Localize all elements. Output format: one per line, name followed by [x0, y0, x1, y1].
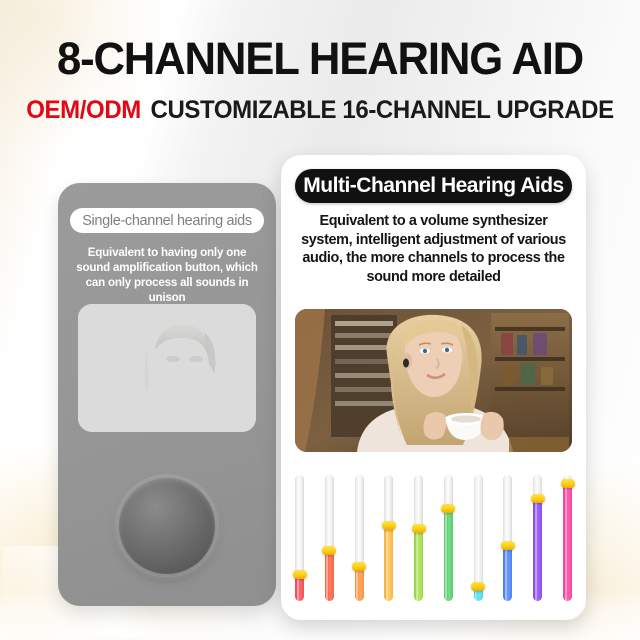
equalizer-knob[interactable] [531, 494, 545, 503]
coffee-photo-art [295, 309, 572, 452]
equalizer-fill [325, 550, 334, 601]
oem-odm-badge: OEM/ODM [26, 96, 141, 124]
equalizer-slider-3[interactable] [355, 475, 364, 601]
equalizer-slider-2[interactable] [325, 475, 334, 601]
single-channel-button[interactable] [119, 478, 215, 574]
equalizer-slider-4[interactable] [384, 475, 393, 601]
equalizer-fill [444, 508, 453, 601]
page-subtitle: OEM/ODMCUSTOMIZABLE 16-CHANNEL UPGRADE [13, 95, 627, 125]
equalizer-knob[interactable] [561, 479, 575, 488]
equalizer-slider-5[interactable] [414, 475, 423, 601]
equalizer-slider-10[interactable] [563, 475, 572, 601]
single-channel-description: Equivalent to having only one sound ampl… [72, 245, 262, 305]
single-channel-card: Single-channel hearing aids Equivalent t… [58, 183, 276, 606]
equalizer-knob[interactable] [471, 582, 485, 591]
multi-channel-card: Multi-Channel Hearing Aids Equivalent to… [281, 155, 586, 620]
equalizer-knob[interactable] [382, 521, 396, 530]
equalizer-slider-6[interactable] [444, 475, 453, 601]
single-channel-pill-label: Single-channel hearing aids [82, 213, 252, 229]
equalizer-slider-1[interactable] [295, 475, 304, 601]
headache-photo-art [78, 304, 256, 432]
equalizer-knob[interactable] [352, 562, 366, 571]
woman-with-headache-photo [78, 304, 256, 432]
single-channel-pill: Single-channel hearing aids [70, 208, 264, 233]
multi-channel-description: Equivalent to a volume synthesizer syste… [297, 212, 570, 286]
multi-channel-pill-label: Multi-Channel Hearing Aids [303, 174, 563, 198]
equalizer-knob[interactable] [441, 504, 455, 513]
equalizer-fill [384, 525, 393, 601]
equalizer-fill [414, 528, 423, 601]
equalizer-fill [533, 498, 542, 601]
page-subtitle-text: CUSTOMIZABLE 16-CHANNEL UPGRADE [151, 96, 614, 124]
equalizer-knob[interactable] [322, 546, 336, 555]
equalizer-fill [503, 545, 512, 601]
equalizer-slider-7[interactable] [474, 475, 483, 601]
equalizer-fill [563, 483, 572, 601]
multi-channel-pill: Multi-Channel Hearing Aids [295, 169, 572, 203]
product-banner: 8-CHANNEL HEARING AID OEM/ODMCUSTOMIZABL… [0, 0, 640, 640]
equalizer-knob[interactable] [293, 570, 307, 579]
equalizer-knob[interactable] [501, 541, 515, 550]
equalizer-knob[interactable] [412, 524, 426, 533]
equalizer-slider-9[interactable] [533, 475, 542, 601]
woman-with-coffee-cup-photo [295, 309, 572, 452]
equalizer-fill [355, 566, 364, 601]
equalizer-chart [295, 463, 572, 601]
page-title: 8-CHANNEL HEARING AID [10, 33, 631, 85]
equalizer-slider-8[interactable] [503, 475, 512, 601]
